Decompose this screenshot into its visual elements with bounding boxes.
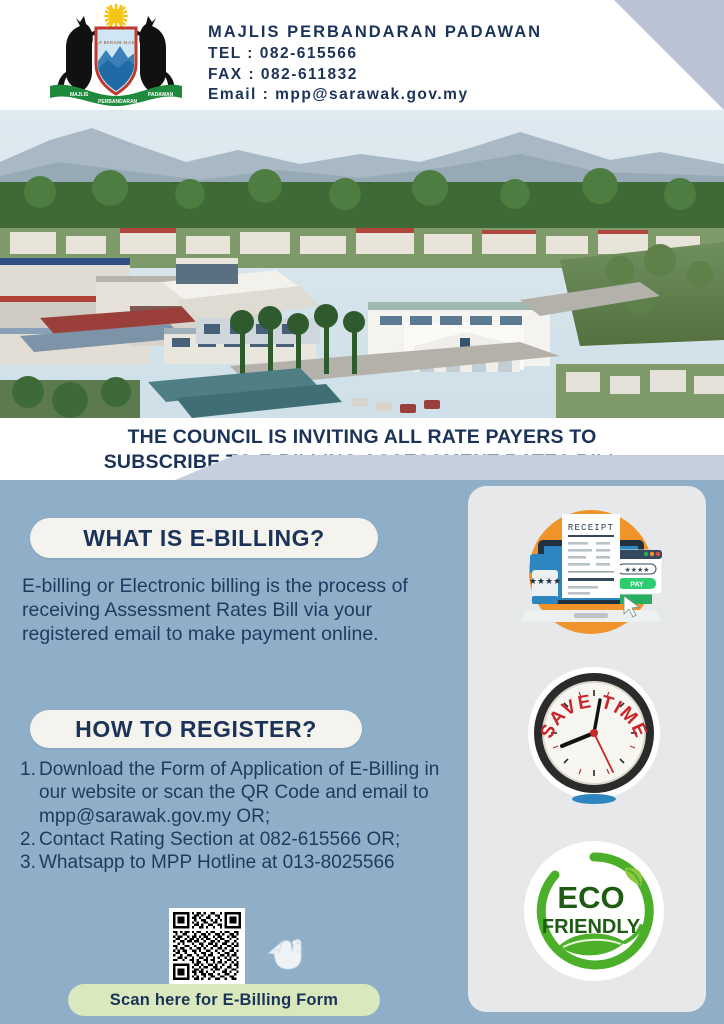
list-item-text: Download the Form of Application of E-Bi…: [39, 758, 448, 828]
save-time-clock-icon: SAVE TIME: [521, 660, 667, 806]
page-header: CEKAP BERSIH MAKMUR MAJLIS PERBANDARAN P…: [0, 0, 724, 110]
council-email: Email : mpp@sarawak.gov.my: [208, 85, 542, 106]
what-is-ebilling-body: E-billing or Electronic billing is the p…: [22, 574, 446, 647]
eco-label-line1: ECO: [557, 880, 624, 915]
section-heading-what-is-ebilling: WHAT IS E-BILLING?: [30, 518, 378, 558]
council-tel: TEL : 082-615566: [208, 44, 542, 65]
list-item-number: 2.: [20, 828, 39, 851]
online-receipt-payment-icon: ★★★★ ★★★★ PAY RECEIPT: [508, 492, 674, 652]
eco-friendly-badge-icon: ECO FRIENDLY: [521, 838, 667, 984]
header-corner-decoration: [614, 0, 724, 110]
list-item-number: 3.: [20, 851, 39, 874]
list-item: 3. Whatsapp to MPP Hotline at 013-802556…: [20, 851, 448, 874]
list-item: 2. Contact Rating Section at 082-615566 …: [20, 828, 448, 851]
list-item-number: 1.: [20, 758, 39, 781]
svg-text:★★★★: ★★★★: [529, 576, 561, 586]
scan-ebilling-form-button[interactable]: Scan here for E-Billing Form: [68, 984, 380, 1016]
svg-text:PERBANDARAN: PERBANDARAN: [98, 99, 138, 105]
svg-text:RECEIPT: RECEIPT: [568, 523, 614, 533]
hero-photo: [0, 110, 724, 418]
register-steps-list: 1. Download the Form of Application of E…: [20, 758, 448, 875]
qr-code-icon[interactable]: [169, 908, 245, 984]
svg-text:PADAWAN: PADAWAN: [148, 92, 174, 98]
band-wedge-right: [232, 455, 724, 480]
poster: CEKAP BERSIH MAKMUR MAJLIS PERBANDARAN P…: [0, 0, 724, 1024]
section-heading-how-to-register: HOW TO REGISTER?: [30, 710, 362, 748]
svg-text:PAY: PAY: [630, 582, 644, 589]
svg-text:★★★★: ★★★★: [624, 566, 649, 574]
band-wedge-left: [175, 455, 235, 480]
council-name: MAJLIS PERBANDARAN PADAWAN: [208, 22, 542, 44]
list-item: 1. Download the Form of Application of E…: [20, 758, 448, 828]
council-fax: FAX : 082-611832: [208, 65, 542, 86]
mpp-coat-of-arms-icon: CEKAP BERSIH MAKMUR MAJLIS PERBANDARAN P…: [36, 2, 196, 108]
pointing-hand-icon: [263, 927, 309, 973]
council-contact-block: MAJLIS PERBANDARAN PADAWAN TEL : 082-615…: [208, 22, 542, 106]
eco-label-line2: FRIENDLY: [542, 916, 641, 938]
list-item-text: Whatsapp to MPP Hotline at 013-8025566: [39, 851, 448, 874]
list-item-text: Contact Rating Section at 082-615566 OR;: [39, 828, 448, 851]
svg-text:MAJLIS: MAJLIS: [70, 92, 89, 98]
headline-line-1: THE COUNCIL IS INVITING ALL RATE PAYERS …: [0, 425, 724, 450]
